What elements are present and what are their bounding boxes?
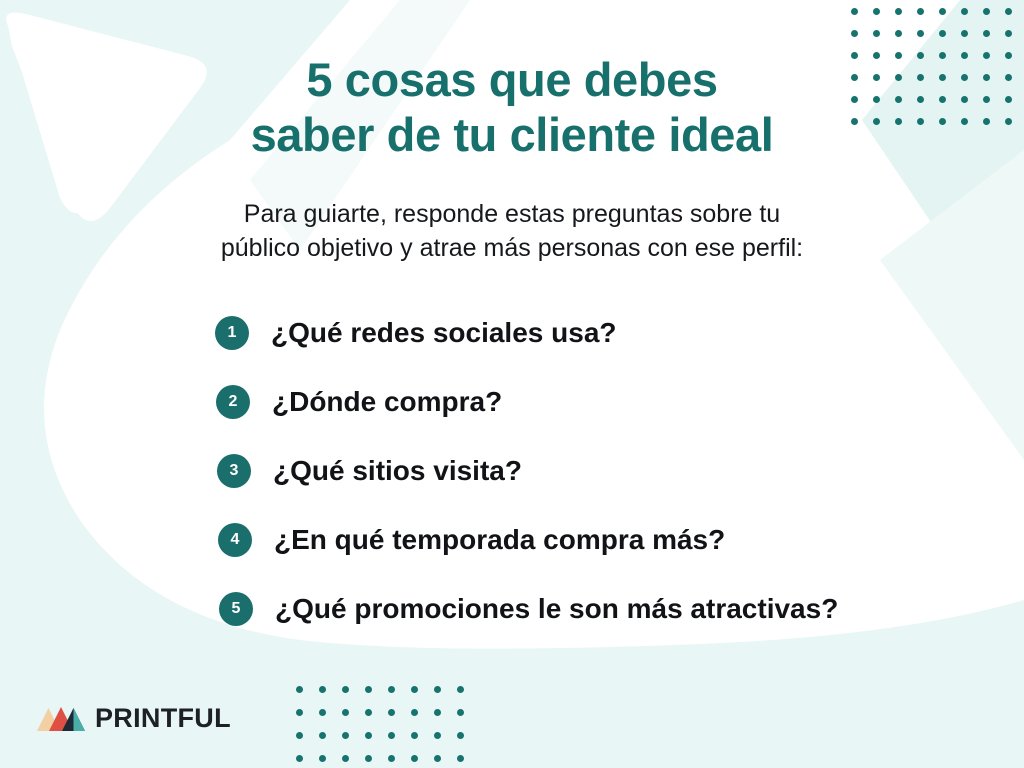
- list-item-label: ¿Qué promociones le son más atractivas?: [275, 592, 838, 626]
- list-item: 5 ¿Qué promociones le son más atractivas…: [0, 574, 1024, 643]
- slide-canvas: 5 cosas que debes saber de tu cliente id…: [0, 0, 1024, 768]
- subtitle-line-2: público objetivo y atrae más personas co…: [0, 231, 1024, 265]
- printful-logo: PRINTFUL: [36, 705, 231, 732]
- list-item-label: ¿Qué sitios visita?: [273, 454, 522, 488]
- list-item-number-badge: 3: [217, 454, 251, 488]
- question-list: 1 ¿Qué redes sociales usa? 2 ¿Dónde comp…: [0, 298, 1024, 643]
- list-item-number-badge: 1: [215, 316, 249, 350]
- subtitle-line-1: Para guiarte, responde estas preguntas s…: [0, 197, 1024, 231]
- list-item-label: ¿En qué temporada compra más?: [274, 523, 725, 557]
- page-title: 5 cosas que debes saber de tu cliente id…: [0, 52, 1024, 162]
- list-item-number-badge: 2: [216, 385, 250, 419]
- list-item: 2 ¿Dónde compra?: [0, 367, 1024, 436]
- title-line-1: 5 cosas que debes: [0, 52, 1024, 107]
- logo-peak-teal: [74, 708, 86, 731]
- list-item: 1 ¿Qué redes sociales usa?: [0, 298, 1024, 367]
- slide-content: 5 cosas que debes saber de tu cliente id…: [0, 0, 1024, 768]
- list-item-number-badge: 4: [218, 523, 252, 557]
- printful-mountains-logo-icon: [36, 705, 86, 732]
- list-item-label: ¿Qué redes sociales usa?: [271, 316, 617, 350]
- subtitle: Para guiarte, responde estas preguntas s…: [0, 197, 1024, 265]
- list-item: 3 ¿Qué sitios visita?: [0, 436, 1024, 505]
- list-item-number-badge: 5: [219, 592, 253, 626]
- list-item-label: ¿Dónde compra?: [272, 385, 502, 419]
- title-line-2: saber de tu cliente ideal: [0, 107, 1024, 162]
- printful-wordmark: PRINTFUL: [95, 705, 231, 732]
- list-item: 4 ¿En qué temporada compra más?: [0, 505, 1024, 574]
